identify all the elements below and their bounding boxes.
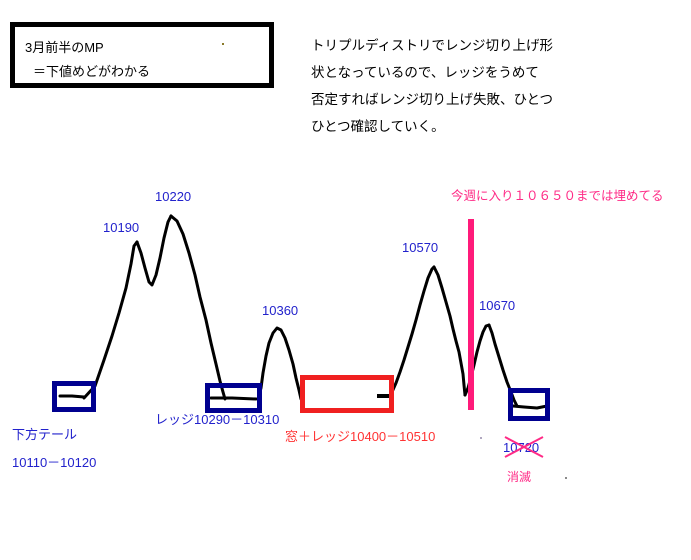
zone-caption-window-ledge: 窓＋レッジ10400－10510 [285,429,435,444]
week-marker-caption: 今週に入り１０６５０までは埋めてる [451,189,664,204]
peak-label-10220: 10220 [155,189,191,204]
zone-caption-ledge-right-wrap: 10720 [503,440,553,460]
price-path [0,0,691,560]
zone-caption-lower-tail-range: 10110－10120 [12,455,96,470]
zone-caption-lower-tail-name: 下方テール [12,427,77,442]
zone-status-ledge-right: 消滅 [507,470,531,485]
week-marker-line [468,219,474,410]
peak-label-10670: 10670 [479,298,515,313]
artifact-dot [480,437,482,439]
zone-box-ledge-right [508,388,550,421]
peak-label-10360: 10360 [262,303,298,318]
zone-box-ledge-mid [205,383,262,413]
cross-out-icon [499,434,551,460]
artifact-dot [565,477,567,479]
screenshot-canvas: 3月前半のMP ＝下値めどがわかる トリプルディストリでレンジ切り上げ形 状とな… [0,0,691,560]
peak-label-10570: 10570 [402,240,438,255]
zone-caption-ledge-mid: レッジ10290－10310 [155,412,279,427]
price-chart: 10190 10220 10360 10570 10670 下方テール 1011… [0,0,691,560]
zone-box-lower-tail [52,381,96,412]
zone-box-window-ledge [300,375,394,413]
peak-label-10190: 10190 [103,220,139,235]
artifact-dot [222,43,224,45]
